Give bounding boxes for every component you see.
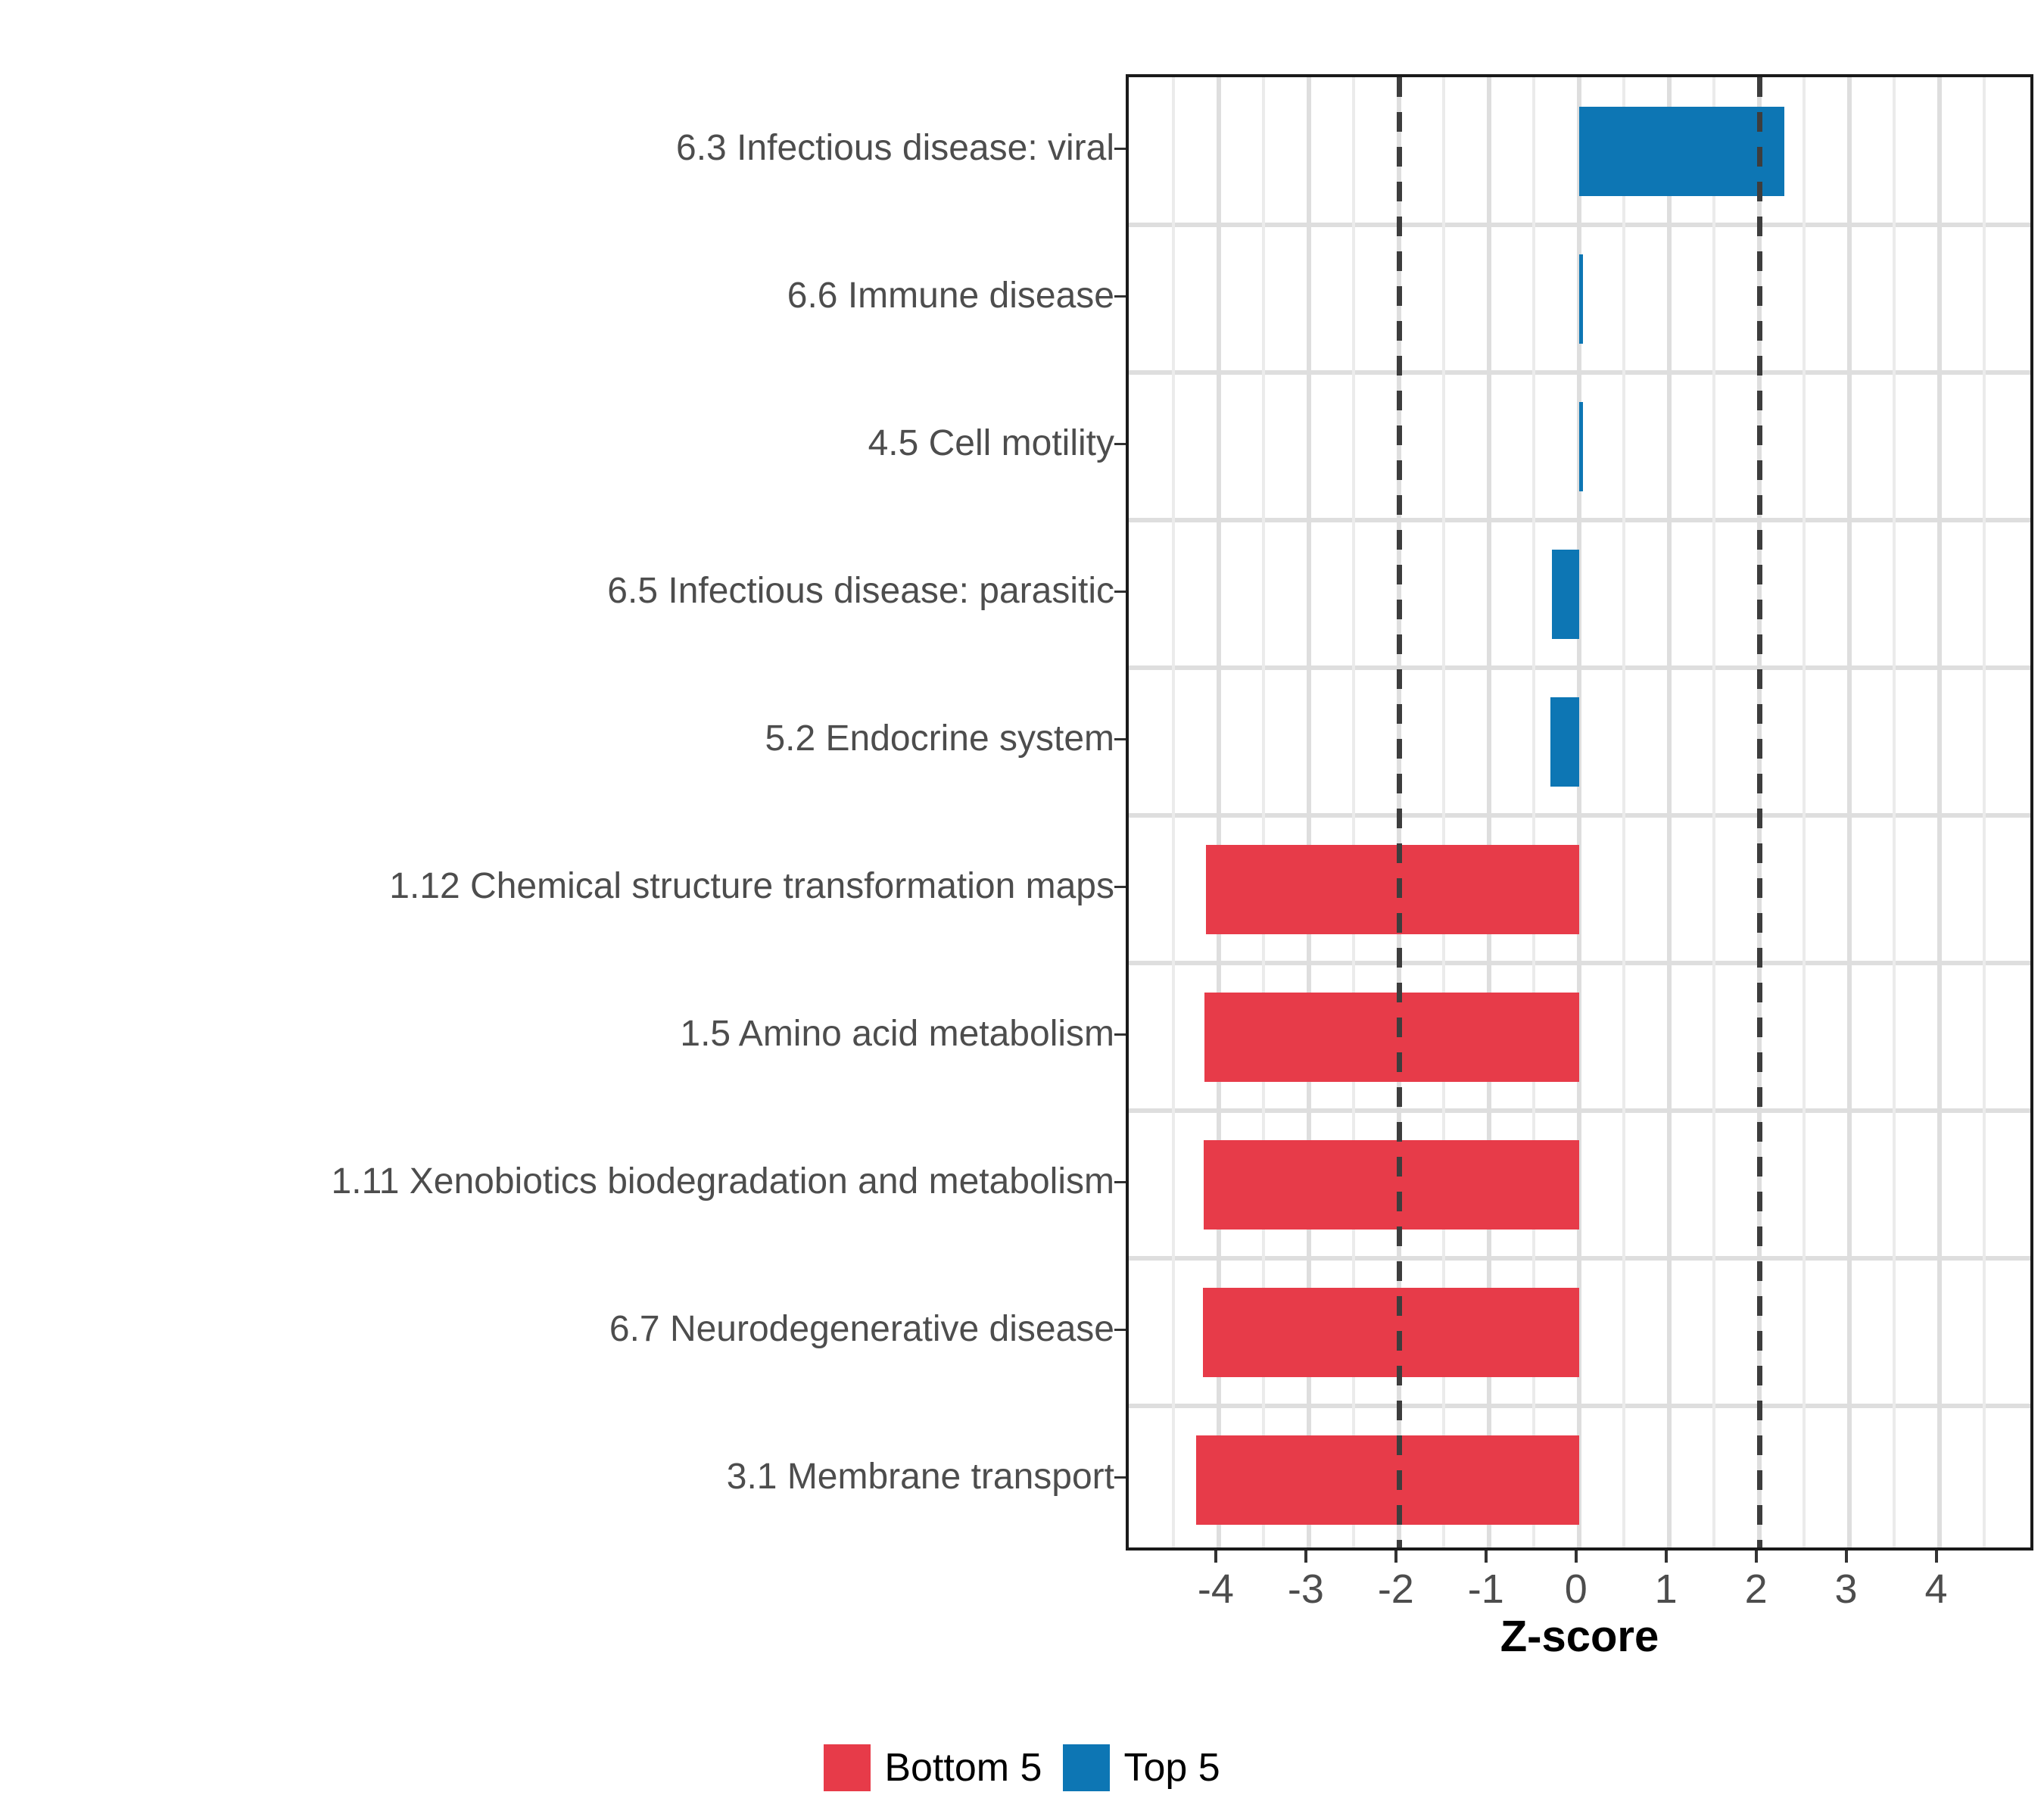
y-axis-tick-label: 1.11 Xenobiotics biodegradation and meta… — [0, 1164, 1114, 1200]
x-axis-tick-mark — [1575, 1551, 1578, 1563]
legend-label: Bottom 5 — [884, 1744, 1042, 1791]
y-axis-tick-mark — [1114, 1476, 1126, 1479]
reference-line — [1397, 77, 1402, 1547]
x-axis-tick-mark — [1214, 1551, 1217, 1563]
x-axis-tick-mark — [1935, 1551, 1938, 1563]
x-axis-tick-label: 0 — [1531, 1567, 1622, 1611]
y-axis-tick-label: 3.1 Membrane transport — [0, 1459, 1114, 1495]
chart-legend: Bottom 5Top 5 — [0, 1734, 2044, 1802]
y-axis-tick-mark — [1114, 1181, 1126, 1183]
y-axis-tick-mark — [1114, 148, 1126, 150]
gridline-vertical-minor — [1803, 77, 1806, 1547]
y-axis-tick-label: 6.3 Infectious disease: viral — [0, 130, 1114, 167]
x-axis-tick-mark — [1845, 1551, 1848, 1563]
x-axis-tick-label: 2 — [1711, 1567, 1802, 1611]
bar — [1579, 402, 1583, 491]
y-axis-labels: 6.3 Infectious disease: viral6.6 Immune … — [0, 74, 1114, 1551]
bar — [1204, 993, 1579, 1082]
x-axis-tick-label: -2 — [1351, 1567, 1441, 1611]
reference-line — [1757, 77, 1762, 1547]
x-axis-tick-label: 3 — [1801, 1567, 1892, 1611]
y-axis-tick-label: 6.5 Infectious disease: parasitic — [0, 573, 1114, 609]
x-axis-tick-mark — [1304, 1551, 1307, 1563]
y-axis-tick-mark — [1114, 591, 1126, 593]
gridline-vertical-minor — [1172, 77, 1175, 1547]
x-axis-tick-label: 1 — [1621, 1567, 1712, 1611]
x-axis-tick-label: -3 — [1260, 1567, 1351, 1611]
bar — [1550, 697, 1579, 787]
gridline-vertical-minor — [1712, 77, 1715, 1547]
y-axis-tick-mark — [1114, 443, 1126, 445]
x-axis-tick-label: -1 — [1441, 1567, 1531, 1611]
legend-label: Top 5 — [1123, 1744, 1220, 1791]
chart-figure: 6.3 Infectious disease: viral6.6 Immune … — [0, 0, 2044, 1817]
gridline-vertical-minor — [1622, 77, 1625, 1547]
y-axis-tick-mark — [1114, 1033, 1126, 1036]
gridline-vertical-minor — [1983, 77, 1986, 1547]
y-axis-tick-label: 5.2 Endocrine system — [0, 721, 1114, 757]
bar — [1206, 845, 1578, 934]
x-axis-tick-mark — [1755, 1551, 1758, 1563]
x-axis-tick-label: -4 — [1170, 1567, 1261, 1611]
bar — [1203, 1288, 1579, 1377]
gridline-vertical — [1847, 77, 1852, 1547]
bar — [1579, 254, 1583, 344]
bar — [1204, 1140, 1579, 1230]
y-axis-tick-label: 4.5 Cell motility — [0, 425, 1114, 462]
gridline-vertical — [1667, 77, 1672, 1547]
x-axis-tick-mark — [1665, 1551, 1668, 1563]
bar — [1552, 550, 1579, 639]
bar — [1579, 107, 1784, 196]
x-axis-tick-mark — [1485, 1551, 1488, 1563]
legend-color-swatch — [1063, 1744, 1110, 1791]
legend-entry[interactable]: Bottom 5 — [824, 1744, 1042, 1791]
y-axis-tick-mark — [1114, 1329, 1126, 1331]
x-axis-tick-label: 4 — [1891, 1567, 1982, 1611]
x-axis-tick-mark — [1394, 1551, 1397, 1563]
bar — [1196, 1435, 1579, 1525]
y-axis-tick-mark — [1114, 295, 1126, 298]
legend-entry[interactable]: Top 5 — [1063, 1744, 1220, 1791]
y-axis-tick-mark — [1114, 738, 1126, 740]
plot-panel — [1126, 74, 2033, 1551]
y-axis-tick-label: 1.12 Chemical structure transformation m… — [0, 868, 1114, 905]
x-axis-title: Z-score — [1126, 1611, 2033, 1662]
legend-color-swatch — [824, 1744, 871, 1791]
y-axis-tick-label: 1.5 Amino acid metabolism — [0, 1016, 1114, 1052]
gridline-vertical — [1937, 77, 1942, 1547]
y-axis-tick-mark — [1114, 886, 1126, 888]
y-axis-tick-label: 6.6 Immune disease — [0, 278, 1114, 314]
y-axis-tick-label: 6.7 Neurodegenerative disease — [0, 1311, 1114, 1348]
gridline-vertical-minor — [1893, 77, 1896, 1547]
